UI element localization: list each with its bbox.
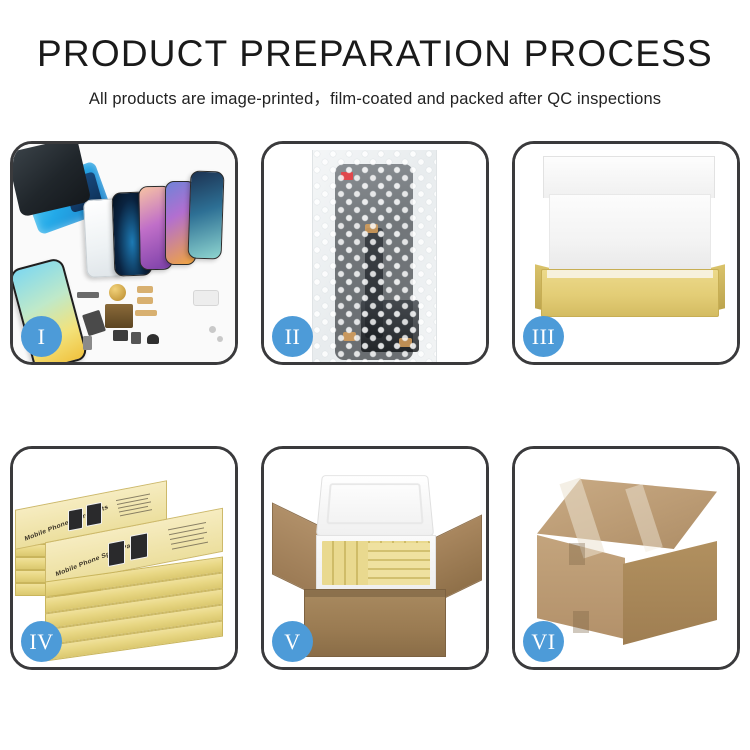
carton-corner-tab-1 [569, 543, 585, 565]
step-badge-4: IV [21, 621, 62, 662]
step-badge-5: V [272, 621, 313, 662]
spare-part-bracket [77, 292, 99, 298]
white-foam-insert [549, 194, 711, 272]
box-print-phone-image-rear-1 [68, 508, 83, 532]
spare-part-flex-cable-3 [135, 310, 157, 316]
spare-part-speaker-coil [109, 284, 126, 301]
spare-part-earpiece [147, 334, 159, 344]
box-print-phone-image-front-1 [108, 540, 125, 567]
carton-corner-tab-2 [573, 611, 589, 633]
carton-body [304, 589, 446, 657]
box-inner-lip [547, 270, 713, 278]
page-subtitle: All products are image-printed，film-coat… [0, 85, 750, 109]
spare-part-tool-kit [193, 290, 219, 306]
spare-part-screw-2 [217, 336, 223, 342]
process-step-card-4: Mobile Phone Spare Parts Mobile Phone Sp… [10, 446, 238, 670]
process-step-card-6: VI [512, 446, 740, 670]
spare-part-camera-module [113, 330, 128, 341]
spare-part-flex-cable-1 [137, 286, 153, 293]
spare-part-screw-1 [209, 326, 216, 333]
step-badge-3: III [523, 316, 564, 357]
step-badge-2: II [272, 316, 313, 357]
bubble-wrap-bag [312, 150, 437, 362]
step-badge-6: VI [523, 621, 564, 662]
page-header: PRODUCT PREPARATION PROCESS All products… [0, 0, 750, 130]
box-print-phone-image-front-2 [130, 532, 148, 560]
product-preparation-process-page: PRODUCT PREPARATION PROCESS All products… [0, 0, 750, 750]
phone-display-teal [187, 170, 224, 259]
bubble-texture [313, 150, 436, 362]
spare-part-chip-grid [105, 304, 133, 328]
process-step-card-5: V [261, 446, 489, 670]
packed-yellow-boxes-right [368, 543, 430, 585]
box-lid-open [543, 156, 715, 198]
process-step-card-3: III [512, 141, 740, 365]
process-step-card-2: II [261, 141, 489, 365]
page-title: PRODUCT PREPARATION PROCESS [0, 32, 750, 76]
box-print-phone-image-rear-2 [86, 502, 102, 527]
step-badge-1: I [21, 316, 62, 357]
process-step-card-1: I [10, 141, 238, 365]
foam-lid [316, 475, 434, 536]
process-steps-grid: I II [10, 141, 740, 671]
spare-part-connector [83, 336, 92, 350]
spare-part-vibrator [131, 332, 141, 344]
spare-part-flex-cable-2 [137, 297, 153, 304]
